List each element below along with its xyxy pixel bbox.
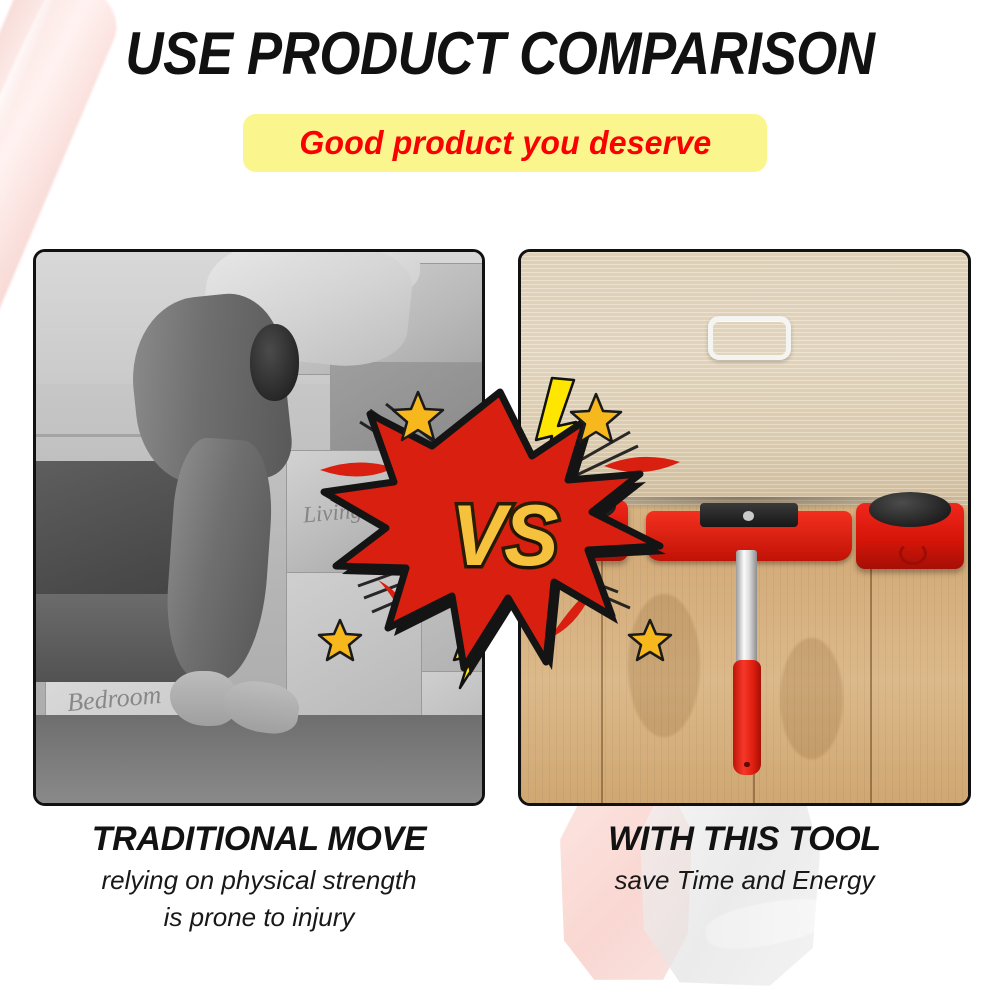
vs-text: VS <box>451 487 556 586</box>
lifter-grip-handle <box>733 660 762 776</box>
dolly-right-notch <box>899 542 926 565</box>
subtitle-text: Good product you deserve <box>299 124 711 162</box>
caption-right-title: WITH THIS TOOL <box>518 818 971 860</box>
wood-grain-2 <box>780 638 843 759</box>
caption-left-title: TRADITIONAL MOVE <box>33 818 485 860</box>
vs-letters: VS <box>314 376 694 696</box>
caption-left-line2: is prone to injury <box>33 901 485 934</box>
dolly-right-pad <box>869 492 951 526</box>
infographic-canvas: USE PRODUCT COMPARISON Good product you … <box>0 0 1000 1000</box>
caption-right-line1: save Time and Energy <box>518 864 971 897</box>
caption-traditional: TRADITIONAL MOVE relying on physical str… <box>33 818 485 934</box>
vs-badge: VS <box>300 370 700 690</box>
dolly-right <box>856 503 963 569</box>
caption-left-line1: relying on physical strength <box>33 864 485 897</box>
lifter-shaft <box>736 550 757 671</box>
person-hand-object <box>250 324 299 401</box>
cabinet-handle <box>708 316 791 360</box>
lifter-clamp <box>700 503 798 527</box>
caption-with-tool: WITH THIS TOOL save Time and Energy <box>518 818 971 897</box>
box-label-bedroom: Bedroom <box>66 680 163 718</box>
person-leg-jeans <box>161 436 276 685</box>
subtitle-banner: Good product you deserve <box>243 114 767 172</box>
page-title: USE PRODUCT COMPARISON <box>60 22 940 86</box>
